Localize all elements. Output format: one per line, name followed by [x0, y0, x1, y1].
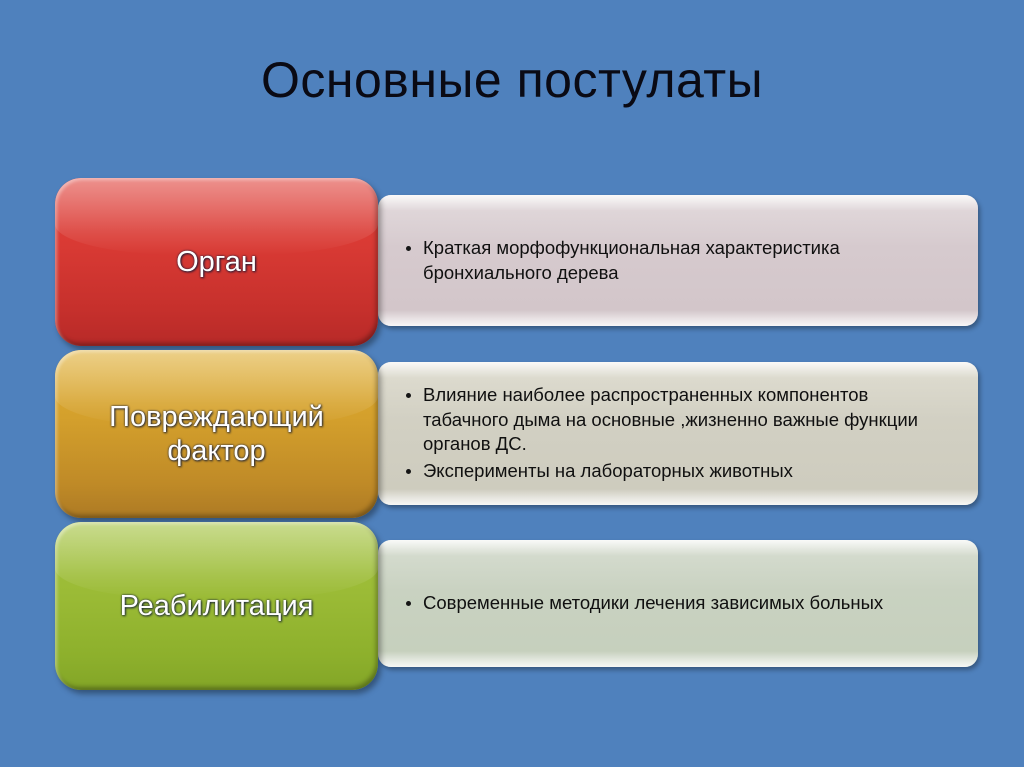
diagram-row-damaging-factor: Влияние наиболее распространенных компон… [0, 350, 1024, 518]
bullet-text: Эксперименты на лабораторных животных [423, 460, 793, 481]
diagram-row-rehabilitation: Современные методики лечения зависимых б… [0, 522, 1024, 690]
bullet-list-rehabilitation: Современные методики лечения зависимых б… [406, 591, 950, 615]
diagram-row-organ: Краткая морфофункциональная характеристи… [0, 178, 1024, 346]
bullet-text: Влияние наиболее распространенных компон… [423, 384, 918, 454]
stage-chip-rehabilitation[interactable]: Реабилитация [55, 522, 378, 690]
stage-chip-label-line2: фактор [167, 435, 265, 467]
panel-body-organ: Краткая морфофункциональная характеристи… [378, 195, 960, 326]
stage-chip-label-organ: Орган [164, 245, 269, 279]
content-panel-damaging-factor[interactable]: Влияние наиболее распространенных компон… [378, 362, 978, 505]
content-panel-organ[interactable]: Краткая морфофункциональная характеристи… [378, 195, 978, 326]
bullet-dot-icon [406, 393, 411, 398]
content-panel-rehabilitation[interactable]: Современные методики лечения зависимых б… [378, 540, 978, 667]
stage-chip-label-damaging-factor: Повреждающий фактор [97, 400, 336, 468]
bullet-dot-icon [406, 469, 411, 474]
stage-chip-damaging-factor[interactable]: Повреждающий фактор [55, 350, 378, 518]
chip-gloss-overlay [55, 178, 378, 255]
bullet-dot-icon [406, 601, 411, 606]
bullet-dot-icon [406, 246, 411, 251]
stage-chip-organ[interactable]: Орган [55, 178, 378, 346]
bullet-list-organ: Краткая морфофункциональная характеристи… [406, 236, 950, 285]
bullet-text: Краткая морфофункциональная характеристи… [423, 237, 840, 282]
process-diagram: Краткая морфофункциональная характеристи… [0, 0, 1024, 767]
panel-body-rehabilitation: Современные методики лечения зависимых б… [378, 540, 960, 667]
stage-chip-label-line1: Повреждающий [109, 401, 324, 433]
bullet-list-damaging-factor: Влияние наиболее распространенных компон… [406, 383, 950, 484]
list-item: Влияние наиболее распространенных компон… [406, 383, 950, 456]
chip-gloss-overlay [55, 522, 378, 599]
panel-body-damaging-factor: Влияние наиболее распространенных компон… [378, 362, 960, 505]
list-item: Современные методики лечения зависимых б… [406, 591, 950, 615]
list-item: Эксперименты на лабораторных животных [406, 459, 950, 483]
list-item: Краткая морфофункциональная характеристи… [406, 236, 950, 285]
stage-chip-label-rehabilitation: Реабилитация [108, 589, 326, 623]
bullet-text: Современные методики лечения зависимых б… [423, 592, 883, 613]
